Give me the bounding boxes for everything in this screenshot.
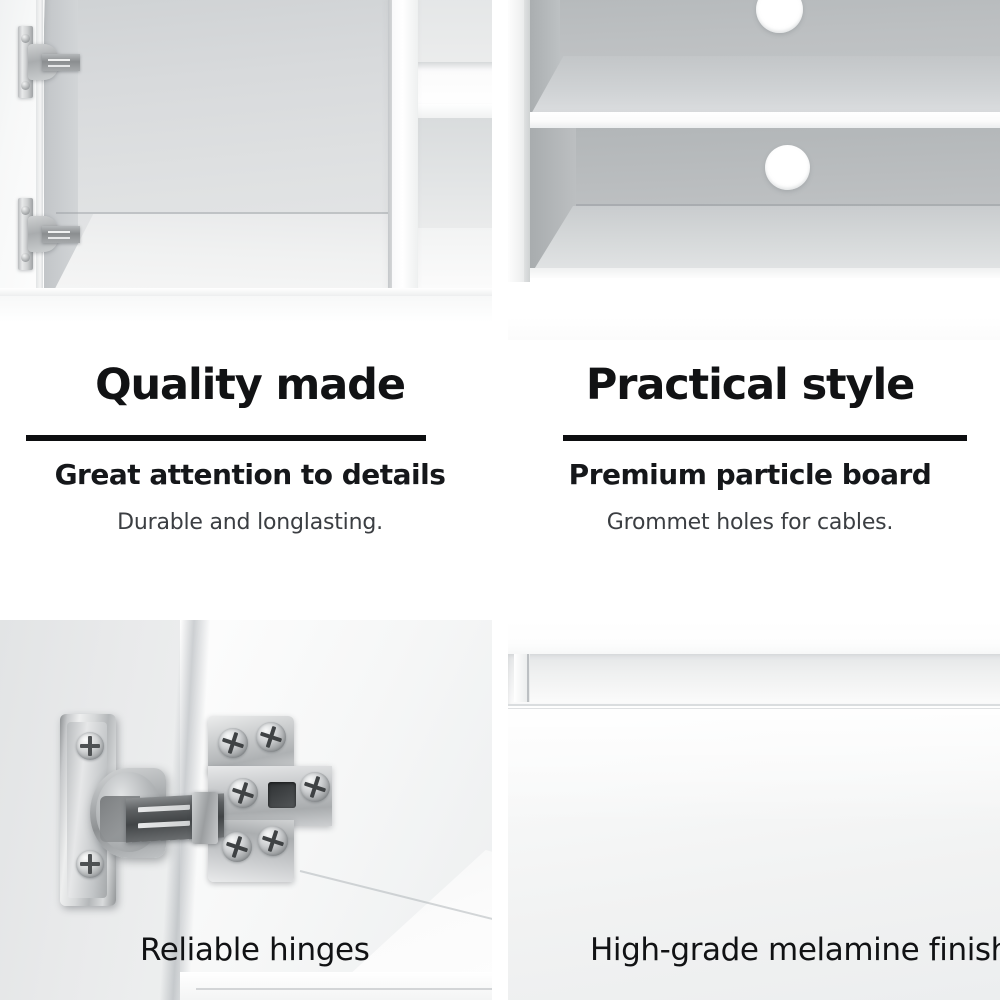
product-feature-infographic: Quality made Great attention to details … xyxy=(0,0,1000,1000)
cabinet-side-panel-edge xyxy=(524,0,530,282)
phillips-screw-icon xyxy=(258,826,288,856)
hinge-caption: Reliable hinges xyxy=(140,935,369,966)
phillips-screw-icon xyxy=(76,732,104,760)
cabinet-interior-photo xyxy=(0,0,492,340)
side-compartment-floor xyxy=(416,228,492,288)
side-compartment-lower xyxy=(416,118,492,240)
feature-note: Grommet holes for cables. xyxy=(500,510,1000,536)
feature-practical-style: Practical style Premium particle board G… xyxy=(500,340,1000,612)
phillips-screw-icon xyxy=(21,81,30,90)
cabinet-floor-seam xyxy=(56,212,396,214)
feature-divider-rule xyxy=(563,435,967,441)
hinge-arm-slot xyxy=(48,231,70,233)
panel-gutter xyxy=(0,612,1000,620)
phillips-screw-icon xyxy=(21,206,30,215)
phillips-screw-icon xyxy=(256,722,286,752)
hinge-arm-slot xyxy=(48,59,70,61)
cabinet-hinge-icon xyxy=(52,710,322,930)
side-compartment-middle xyxy=(416,72,492,106)
hinge-arm-slot xyxy=(48,65,70,67)
panel-hairline-seam xyxy=(508,708,1000,709)
lower-compartment-seam xyxy=(576,204,1000,206)
hinge-arm xyxy=(42,226,80,243)
phillips-screw-icon xyxy=(76,850,104,878)
recessed-handle-groove xyxy=(508,652,1000,704)
cabinet-hinge-icon xyxy=(18,26,80,98)
hinge-arm-link xyxy=(192,792,218,844)
feature-note: Durable and longlasting. xyxy=(0,510,538,536)
groove-bottom-line xyxy=(508,704,1000,706)
circle-hole-icon xyxy=(765,145,810,190)
cabinet-base-rail xyxy=(508,278,1000,340)
feature-subtitle: Premium particle board xyxy=(500,458,1000,492)
feature-divider-rule xyxy=(26,435,426,441)
shelf-front-edge xyxy=(530,112,1000,128)
feature-text-band: Quality made Great attention to details … xyxy=(0,340,1000,612)
phillips-screw-icon xyxy=(228,778,258,808)
phillips-screw-icon xyxy=(218,728,248,758)
bottom-shelf-line xyxy=(196,988,492,990)
panel-gutter xyxy=(492,0,508,340)
phillips-screw-icon xyxy=(300,772,330,802)
feature-subtitle: Great attention to details xyxy=(0,458,538,492)
grommet-holes-photo xyxy=(508,0,1000,340)
hinge-arm xyxy=(42,54,80,71)
groove-left-line xyxy=(527,654,529,702)
side-shelf-front-edge xyxy=(416,104,492,118)
panel-gutter xyxy=(492,620,508,1000)
melamine-caption: High-grade melamine finish xyxy=(590,935,1000,966)
cabinet-hinge-icon xyxy=(18,198,80,270)
melamine-top-rail xyxy=(508,620,1000,654)
hinge-plate-cutout xyxy=(268,782,296,808)
melamine-panel-sheen xyxy=(508,706,1000,826)
phillips-screw-icon xyxy=(222,832,252,862)
bottom-shelf xyxy=(180,972,492,1000)
shelf-top-surface xyxy=(530,56,1000,116)
feature-title: Practical style xyxy=(500,364,1000,407)
lower-compartment-floor xyxy=(530,206,1000,276)
phillips-screw-icon xyxy=(21,253,30,262)
feature-title: Quality made xyxy=(0,364,500,407)
cabinet-divider-panel xyxy=(392,0,418,294)
hinge-arm-slot xyxy=(48,237,70,239)
feature-quality-made: Quality made Great attention to details … xyxy=(0,340,500,612)
side-compartment-upper xyxy=(416,0,492,70)
cabinet-plinth xyxy=(0,296,492,340)
phillips-screw-icon xyxy=(21,34,30,43)
